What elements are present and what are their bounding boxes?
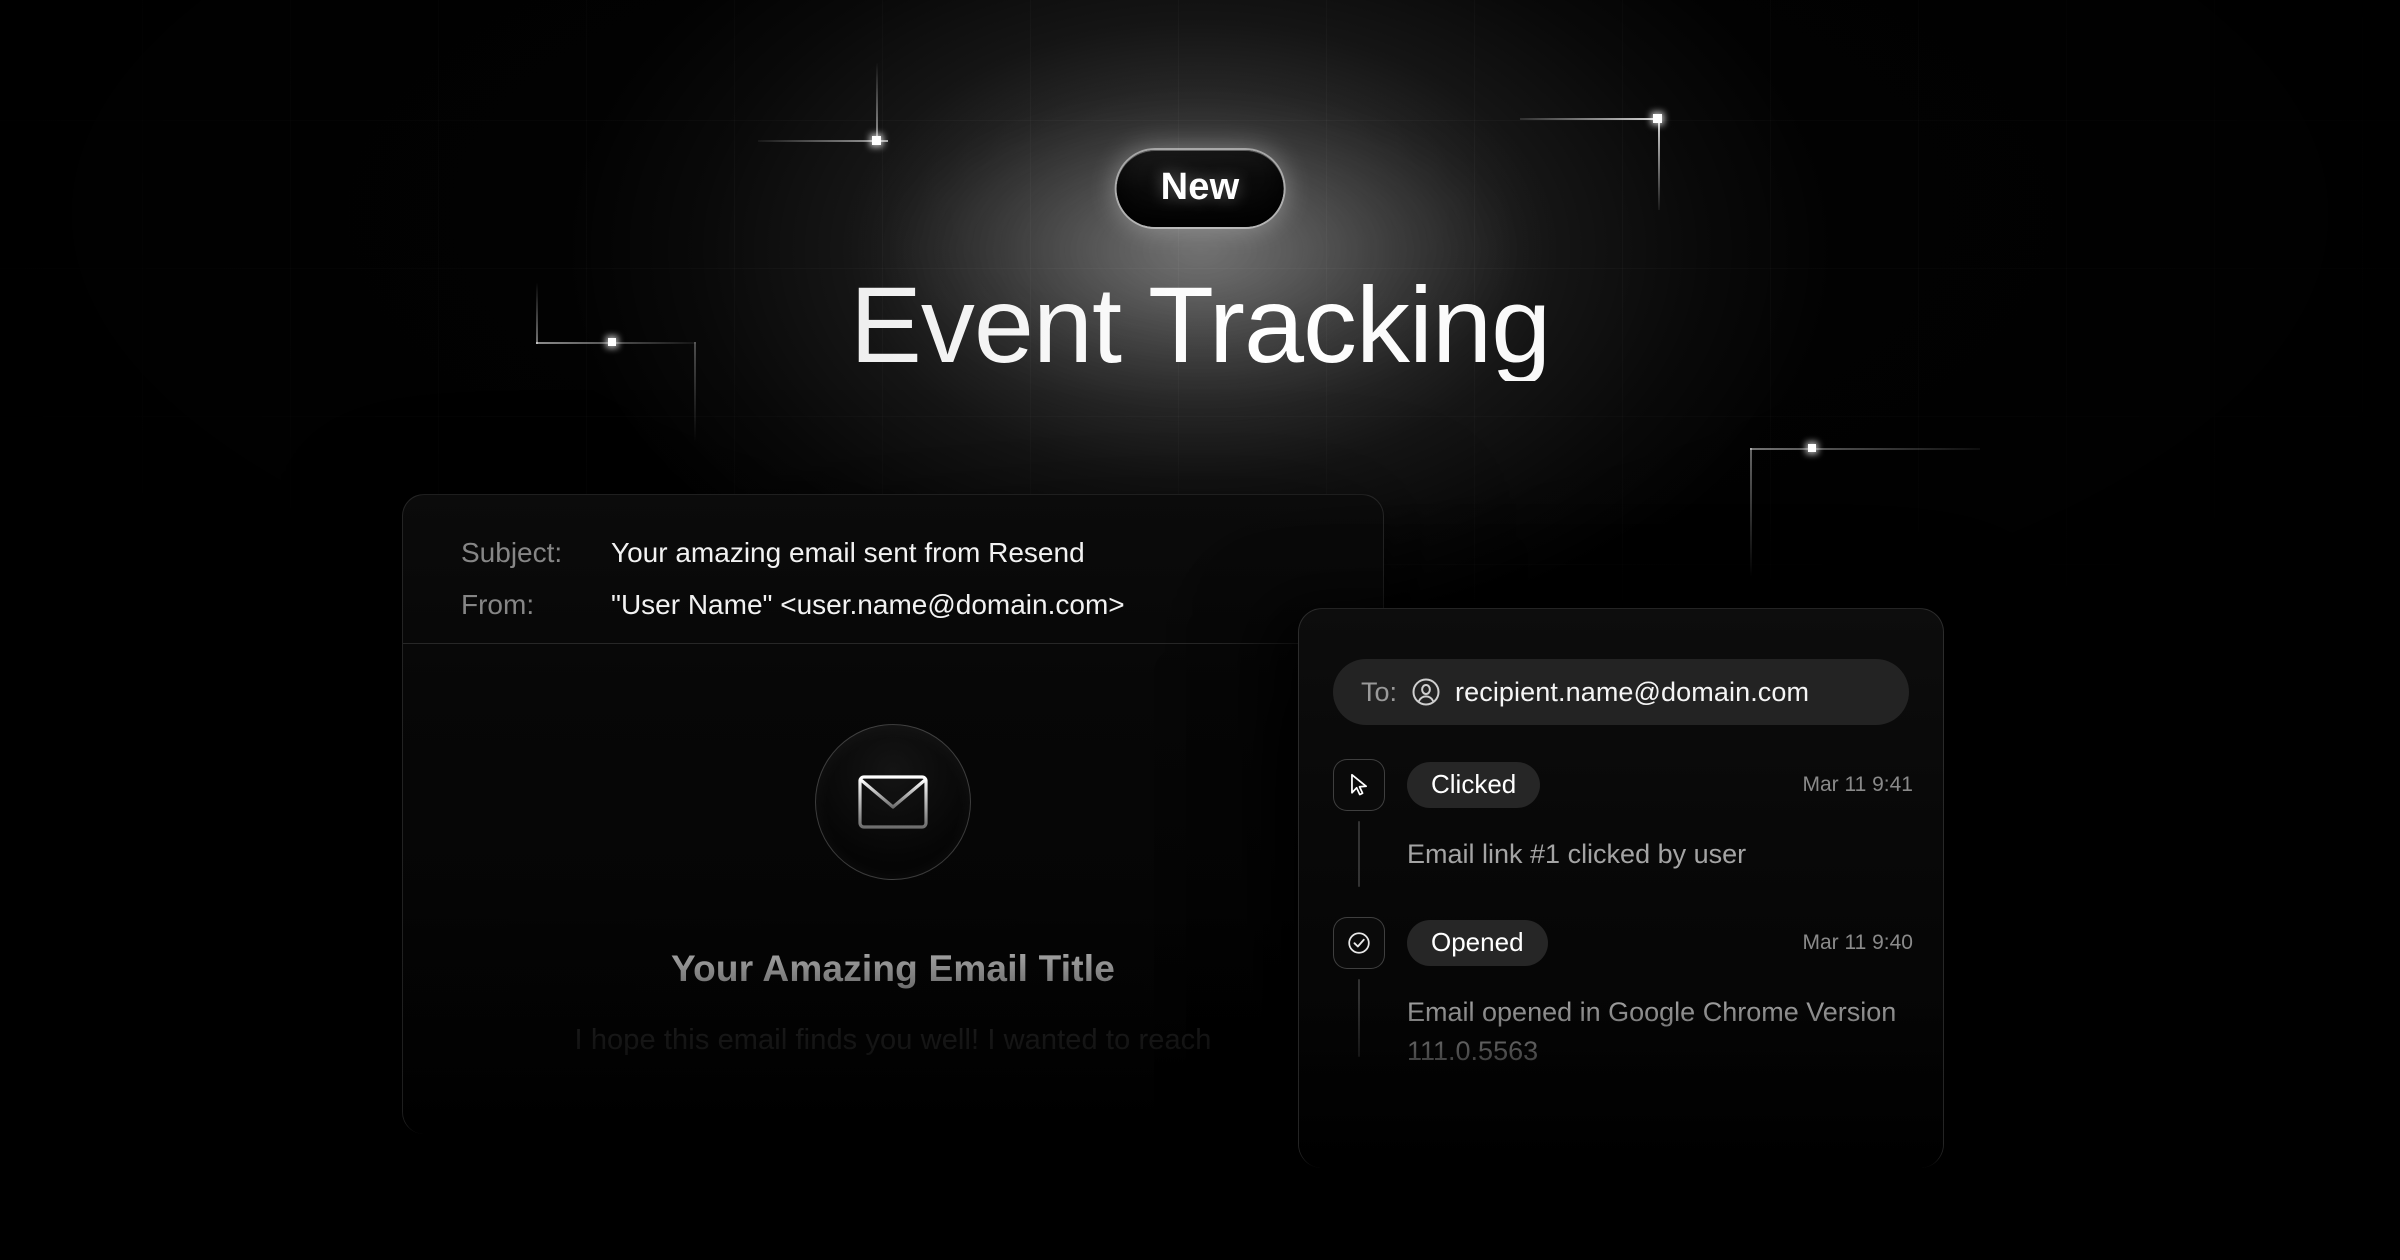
cursor-pointer-icon-container: [1333, 759, 1385, 811]
hero-stage: New Event Tracking Subject: Your amazing…: [0, 0, 2400, 1260]
check-circle-icon-container: [1333, 917, 1385, 969]
email-header: Subject: Your amazing email sent from Re…: [403, 495, 1383, 644]
new-badge: New: [1117, 150, 1284, 227]
corner-bracket-mid-right: [1750, 420, 1980, 580]
event-status-badge-clicked: Clicked: [1407, 762, 1540, 808]
event-spacer: [1299, 873, 1943, 917]
envelope-icon-container: [815, 724, 971, 880]
page-title: Event Tracking: [0, 268, 2400, 381]
email-from-value: "User Name" <user.name@domain.com>: [611, 589, 1125, 621]
event-description-opened: Email opened in Google Chrome Version 11…: [1407, 993, 1943, 1070]
event-connector-opened: [1358, 979, 1360, 1057]
new-badge-label: New: [1161, 166, 1240, 208]
email-body-title: Your Amazing Email Title: [403, 948, 1383, 990]
user-avatar-icon: [1411, 677, 1441, 707]
email-subject-label: Subject:: [461, 537, 611, 569]
email-subject-value: Your amazing email sent from Resend: [611, 537, 1085, 569]
email-meta-from: From: "User Name" <user.name@domain.com>: [403, 589, 1383, 621]
event-list: Clicked Mar 11 9:41 Email link #1 clicke…: [1299, 759, 1943, 1070]
email-body-text: I hope this email finds you well! I want…: [403, 1024, 1383, 1057]
event-item-opened[interactable]: Opened Mar 11 9:40 Email opened in Googl…: [1299, 917, 1943, 1070]
event-timestamp-clicked: Mar 11 9:41: [1802, 773, 1913, 797]
email-preview-card: Subject: Your amazing email sent from Re…: [402, 494, 1384, 1134]
background-spotlight-core: [750, 40, 1650, 460]
event-tracking-panel: To: recipient.name@domain.com Clicked: [1298, 608, 1944, 1168]
corner-bracket-top-right: [1520, 60, 1660, 210]
corner-bracket-top-left: [758, 62, 888, 172]
event-timestamp-opened: Mar 11 9:40: [1802, 931, 1913, 955]
event-item-clicked[interactable]: Clicked Mar 11 9:41 Email link #1 clicke…: [1299, 759, 1943, 873]
event-status-badge-opened: Opened: [1407, 920, 1548, 966]
check-circle-icon: [1345, 929, 1373, 957]
recipient-label: To:: [1361, 677, 1397, 708]
event-connector-clicked: [1358, 821, 1360, 887]
email-from-label: From:: [461, 589, 611, 621]
event-description-clicked: Email link #1 clicked by user: [1407, 835, 1943, 873]
email-body: Your Amazing Email Title I hope this ema…: [403, 644, 1383, 1057]
recipient-pill[interactable]: To: recipient.name@domain.com: [1333, 659, 1909, 725]
event-header-opened: Opened Mar 11 9:40: [1333, 917, 1943, 969]
recipient-address: recipient.name@domain.com: [1455, 677, 1809, 708]
event-header-clicked: Clicked Mar 11 9:41: [1333, 759, 1943, 811]
envelope-icon: [858, 775, 928, 829]
cursor-pointer-icon: [1346, 772, 1372, 798]
email-meta-subject: Subject: Your amazing email sent from Re…: [403, 537, 1383, 569]
new-badge-pill: New: [1117, 150, 1284, 227]
